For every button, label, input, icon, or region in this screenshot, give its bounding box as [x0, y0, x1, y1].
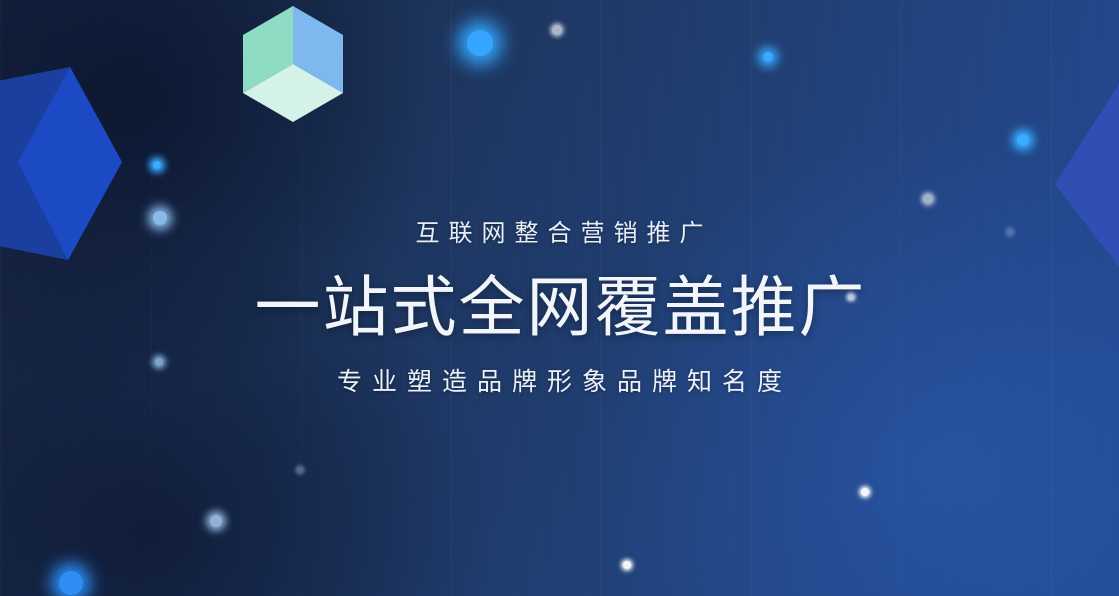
hero-subline: 专业塑造品牌形象品牌知名度 [0, 362, 1119, 402]
isometric-cube-logo [243, 6, 343, 122]
hero-banner: 互联网整合营销推广 一站式全网覆盖推广 专业塑造品牌形象品牌知名度 [0, 0, 1119, 596]
hero-headline: 一站式全网覆盖推广 [0, 266, 1119, 348]
hero-eyebrow: 互联网整合营销推广 [0, 214, 1119, 254]
hero-text-block: 互联网整合营销推广 一站式全网覆盖推广 专业塑造品牌形象品牌知名度 [0, 214, 1119, 402]
